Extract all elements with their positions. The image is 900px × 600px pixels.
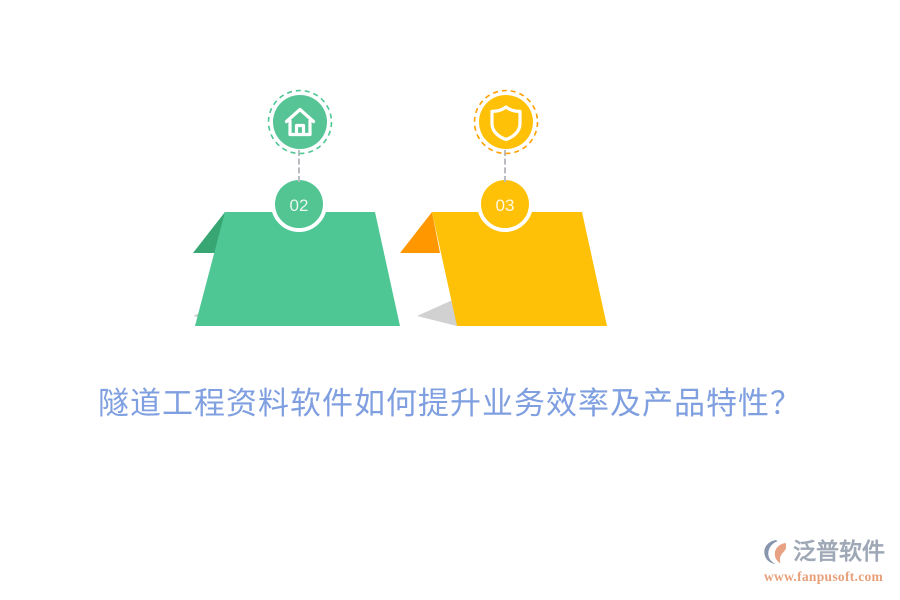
badge-circle-03: 03 — [477, 176, 533, 232]
medallion-svg-03 — [472, 88, 540, 156]
step-badge-02[interactable]: 02 — [271, 176, 327, 232]
page-title: 隧道工程资料软件如何提升业务效率及产品特性？ — [0, 378, 900, 423]
step-badge-03[interactable]: 03 — [477, 176, 533, 232]
poster-canvas: 02 03 — [0, 0, 900, 600]
badge-circle-02: 02 — [271, 176, 327, 232]
brand-logo[interactable]: 泛普软件 www.fanpusoft.com — [762, 536, 892, 588]
medallion-fill-02 — [273, 95, 327, 149]
step-medallion-03[interactable] — [472, 88, 540, 156]
badge-number-02: 02 — [290, 196, 309, 215]
logo-swoosh — [775, 543, 786, 563]
fanpu-logo-icon — [762, 537, 792, 567]
banner-shadow-03 — [417, 298, 457, 326]
brand-url: www.fanpusoft.com — [764, 569, 892, 585]
medallion-svg-02 — [266, 88, 334, 156]
badge-number-03: 03 — [496, 196, 515, 215]
step-medallion-02[interactable] — [266, 88, 334, 156]
logo-row: 泛普软件 — [762, 536, 892, 568]
brand-name: 泛普软件 — [793, 537, 885, 567]
